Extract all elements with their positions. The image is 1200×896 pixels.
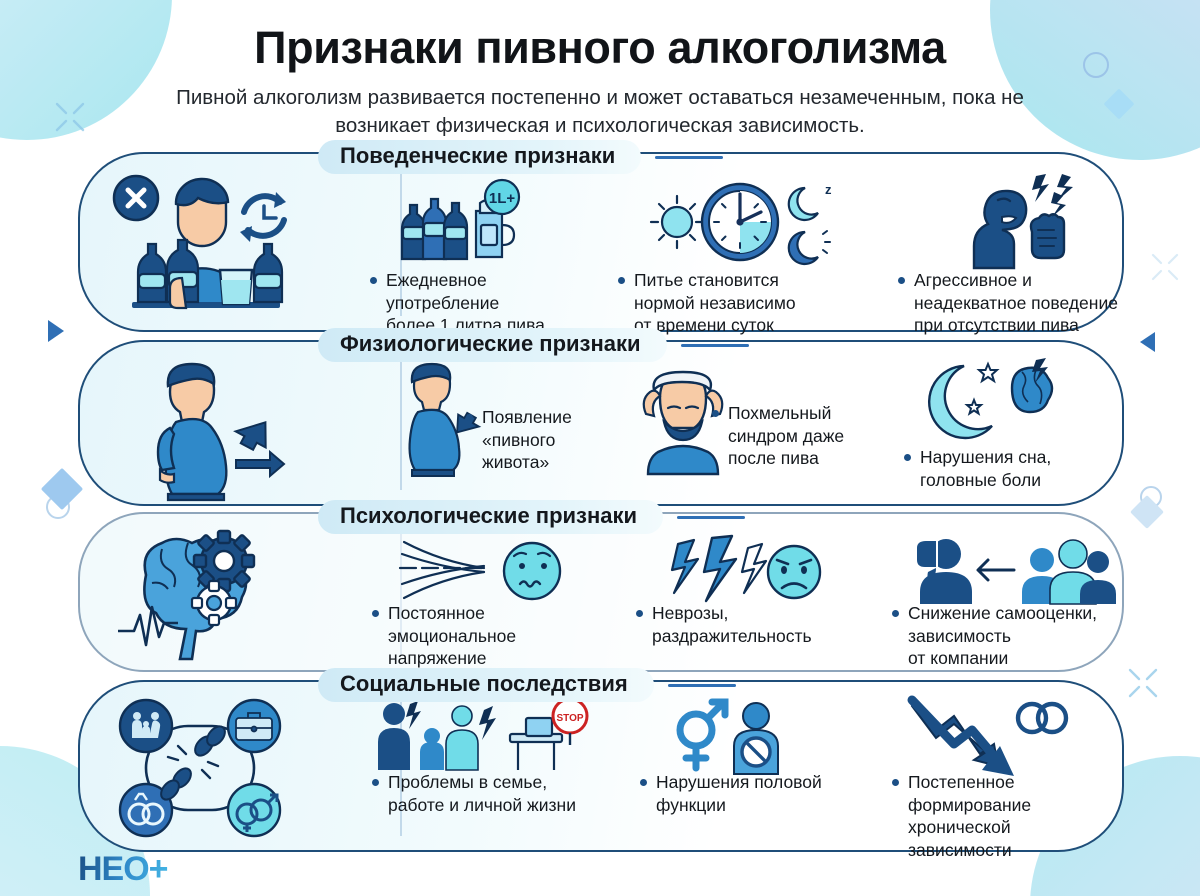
three-bottles-and-mug-1l-icon: 1L+ xyxy=(402,181,528,263)
bullet-list-social-1: Проблемы в семье, работе и личной жизни xyxy=(372,771,600,816)
section-heading-psychological: Психологические признаки xyxy=(318,500,745,534)
list-item: Постепенное формирование хронической зав… xyxy=(892,771,1122,861)
icon-gender-symbol-blocked-person xyxy=(668,700,798,774)
brand-logo: НЕО+ xyxy=(78,850,168,889)
downward-arrow-chronic-rings-icon xyxy=(908,698,1068,776)
bullet-dot-icon xyxy=(618,277,625,284)
list-item: Нарушения сна, головные боли xyxy=(904,446,1124,491)
bullet-dot-icon xyxy=(466,414,473,421)
list-item: Снижение самооценки, зависимость от комп… xyxy=(892,602,1136,670)
icon-sun-clock-moon: z xyxy=(645,176,835,268)
gear-icon xyxy=(194,531,254,591)
bullet-list-physiological-1: Появление «пивного живота» xyxy=(466,406,626,474)
bullet-text: Агрессивное и неадекватное поведение при… xyxy=(914,269,1118,337)
bullet-list-psychological-3: Снижение самооценки, зависимость от комп… xyxy=(892,602,1136,670)
section-heading-social: Социальные последствия xyxy=(318,668,736,702)
icon-downward-arrow-chronic-rings xyxy=(908,698,1068,776)
list-item: Похмельный синдром даже после пива xyxy=(712,402,912,470)
list-item: Проблемы в семье, работе и личной жизни xyxy=(372,771,600,816)
brain-with-gears-icon xyxy=(116,527,312,655)
man-with-beer-belly-icon xyxy=(140,358,280,500)
page-title: Признаки пивного алкоголизма xyxy=(0,22,1200,74)
bullet-list-physiological-3: Нарушения сна, головные боли xyxy=(904,446,1124,491)
illustration-brain-with-gears xyxy=(116,527,312,655)
thumbs-down-group-icon xyxy=(910,534,1110,606)
bullet-dot-icon xyxy=(904,454,911,461)
bullet-text: Проблемы в семье, работе и личной жизни xyxy=(388,771,576,816)
bullet-list-behavioral-1: Ежедневное употребление более 1 литра пи… xyxy=(370,269,566,337)
bullet-dot-icon xyxy=(372,610,379,617)
bullet-dot-icon xyxy=(892,779,899,786)
illustration-broken-chain-life-circles xyxy=(108,700,312,834)
bullet-list-psychological-2: Неврозы, раздражительность xyxy=(636,602,856,647)
bullet-text: Похмельный синдром даже после пива xyxy=(728,402,844,470)
man-with-beer-bottles-icon xyxy=(104,166,316,318)
decorative-diamond-icon xyxy=(41,468,83,510)
sparkle-x-icon xyxy=(53,100,87,134)
section-heading-label: Поведенческие признаки xyxy=(318,140,641,174)
list-item: Ежедневное употребление более 1 литра пи… xyxy=(370,269,566,337)
section-heading-physiological: Физиологические признаки xyxy=(318,328,749,362)
bullet-text: Нарушения сна, головные боли xyxy=(920,446,1051,491)
family-conflict-work-stop-icon: STOP xyxy=(374,700,594,772)
bullet-list-behavioral-2: Питье становится нормой независимо от вр… xyxy=(618,269,840,337)
bullet-text: Нарушения половой функции xyxy=(656,771,822,816)
bullet-list-social-2: Нарушения половой функции xyxy=(640,771,850,816)
bullet-text: Появление «пивного живота» xyxy=(482,406,572,474)
decorative-ring-icon xyxy=(46,495,70,519)
list-item: Агрессивное и неадекватное поведение при… xyxy=(898,269,1136,337)
bullet-text: Питье становится нормой независимо от вр… xyxy=(634,269,796,337)
bullet-text: Ежедневное употребление более 1 литра пи… xyxy=(386,269,545,337)
section-heading-rule xyxy=(681,344,749,347)
svg-text:z: z xyxy=(825,182,832,197)
tension-lines-worried-face-icon xyxy=(398,538,588,604)
moon-stars-brain-insomnia-icon xyxy=(918,358,1056,444)
decorative-triangle-icon xyxy=(1140,332,1155,352)
section-heading-label: Психологические признаки xyxy=(318,500,663,534)
bullet-text: Неврозы, раздражительность xyxy=(652,602,812,647)
bullet-dot-icon xyxy=(898,277,905,284)
shouting-man-with-fist-icon xyxy=(958,172,1098,268)
bullet-dot-icon xyxy=(712,410,719,417)
bullet-list-social-3: Постепенное формирование хронической зав… xyxy=(892,771,1122,861)
section-heading-rule xyxy=(668,684,736,687)
list-item: Питье становится нормой независимо от вр… xyxy=(618,269,840,337)
bullet-text: Постепенное формирование хронической зав… xyxy=(908,771,1031,861)
icon-three-bottles-and-mug: 1L+ xyxy=(402,181,528,263)
gender-symbol-blocked-person-icon xyxy=(668,700,798,774)
section-heading-behavioral: Поведенческие признаки xyxy=(318,140,723,174)
page-subtitle: Пивной алкоголизм развивается постепенно… xyxy=(150,84,1050,140)
icon-moon-stars-brain-insomnia xyxy=(918,358,1056,444)
icon-family-conflict-work-stop: STOP xyxy=(374,700,594,772)
bullet-dot-icon xyxy=(636,610,643,617)
sun-clock-moon-icon: z xyxy=(645,176,835,268)
bullet-list-behavioral-3: Агрессивное и неадекватное поведение при… xyxy=(898,269,1136,337)
bullet-dot-icon xyxy=(372,779,379,786)
bullet-dot-icon xyxy=(370,277,377,284)
section-heading-label: Физиологические признаки xyxy=(318,328,667,362)
bullet-list-psychological-1: Постоянное эмоциональное напряжение xyxy=(372,602,582,670)
illustration-man-with-beer-bottles xyxy=(104,166,316,318)
list-item: Неврозы, раздражительность xyxy=(636,602,856,647)
decorative-triangle-icon xyxy=(48,320,64,342)
decorative-diamond-icon xyxy=(1103,88,1134,119)
bullet-dot-icon xyxy=(892,610,899,617)
broken-chain-life-circles-icon xyxy=(108,700,312,834)
stop-sign-icon: STOP xyxy=(556,713,583,724)
section-heading-rule xyxy=(677,516,745,519)
bullet-text: Постоянное эмоциональное напряжение xyxy=(388,602,516,670)
list-item: Появление «пивного живота» xyxy=(466,406,626,474)
decorative-diamond-icon xyxy=(1130,495,1164,529)
sparkle-x-icon xyxy=(1148,250,1182,284)
icon-shouting-man-with-fist xyxy=(958,172,1098,268)
bullet-list-physiological-2: Похмельный синдром даже после пива xyxy=(712,402,912,470)
decorative-ring-icon xyxy=(1140,486,1162,508)
list-item: Нарушения половой функции xyxy=(640,771,850,816)
icon-tension-lines-worried-face xyxy=(398,538,588,604)
lightning-angry-face-icon xyxy=(660,536,820,606)
bullet-dot-icon xyxy=(640,779,647,786)
list-item: Постоянное эмоциональное напряжение xyxy=(372,602,582,670)
infographic-canvas: Признаки пивного алкоголизма Пивной алко… xyxy=(0,0,1200,896)
badge-1l-plus: 1L+ xyxy=(489,190,516,207)
icon-lightning-angry-face xyxy=(660,536,820,606)
bullet-text: Снижение самооценки, зависимость от комп… xyxy=(908,602,1097,670)
illustration-man-with-beer-belly xyxy=(140,358,280,500)
sparkle-x-icon xyxy=(1126,666,1160,700)
icon-thumbs-down-group xyxy=(910,534,1110,606)
section-heading-rule xyxy=(655,156,723,159)
section-heading-label: Социальные последствия xyxy=(318,668,654,702)
